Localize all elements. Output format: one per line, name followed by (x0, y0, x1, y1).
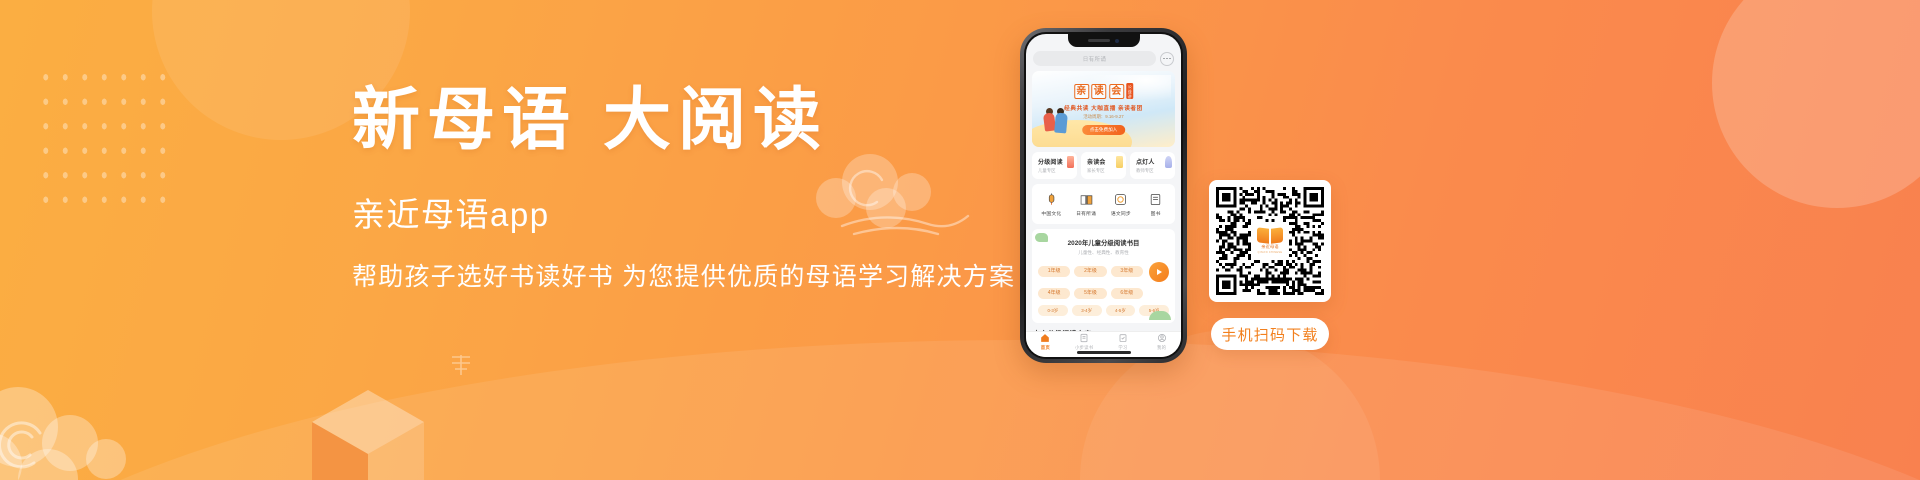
entry-subtitle: 儿童专区 (1038, 168, 1072, 174)
speaker-grille (1088, 39, 1110, 42)
open-book-icon (1079, 192, 1094, 207)
dot-grid-decoration (34, 63, 172, 211)
isometric-cube-decoration (308, 384, 428, 480)
home-icon (1040, 333, 1050, 343)
tab-reading[interactable]: 小步读书 (1065, 333, 1104, 351)
tab-profile[interactable]: 我的 (1142, 333, 1181, 351)
grade-chip[interactable]: 6年级 (1111, 288, 1143, 299)
scan-download-button[interactable]: 手机扫码下载 (1211, 318, 1329, 350)
entry-card-list: 分级阅读 儿童专区 亲读会 家长专区 点灯人 教师专区 (1032, 152, 1175, 179)
tab-label: 首页 (1026, 345, 1065, 351)
grade-row-2: 4年级 5年级 6年级 (1038, 288, 1169, 299)
tab-study[interactable]: 学习 (1104, 333, 1143, 351)
headline-left: 新母语 (352, 80, 577, 160)
hero-title-char: 亲 (1074, 84, 1089, 99)
quick-icon-row: 中国文化 日有所诵 (1032, 184, 1175, 224)
phone-screen: 日有所诵 亲 读 会 公益讲 (1026, 34, 1181, 357)
entry-card-graded-reading[interactable]: 分级阅读 儿童专区 (1032, 152, 1077, 179)
phone-notch (1068, 34, 1140, 47)
app-search-bar[interactable]: 日有所诵 (1033, 51, 1174, 66)
quick-icon-label: 图书 (1138, 210, 1173, 217)
phone-bezel: 日有所诵 亲 读 会 公益讲 (1024, 32, 1183, 359)
book-module-subtitle: 儿童性、经典性、教育性 (1038, 250, 1169, 256)
grade-row-1: 1年级 2年级 3年级 (1038, 262, 1169, 282)
person-icon (1165, 156, 1172, 168)
grade-chip[interactable]: 4年级 (1038, 288, 1070, 299)
tagline: 帮助孩子选好书读好书 为您提供优质的母语学习解决方案 (352, 265, 1012, 290)
book-icon (1148, 192, 1163, 207)
hill-curve-decoration (0, 340, 1920, 480)
entry-subtitle: 家长专区 (1087, 168, 1121, 174)
more-dots-icon[interactable] (1160, 52, 1174, 66)
front-camera-icon (1115, 39, 1119, 43)
quick-icon-label: 中国文化 (1034, 210, 1069, 217)
small-book-glyph-decoration (448, 352, 474, 378)
hero-seal-badge: 公益讲 (1126, 83, 1133, 99)
page-title: 新母语大阅读 (352, 86, 1012, 154)
grade-chip[interactable]: 5年级 (1074, 288, 1106, 299)
bookmark-icon (1116, 156, 1123, 168)
quick-icon-label: 语文同步 (1104, 210, 1139, 217)
hero-title-char: 读 (1091, 84, 1106, 99)
brand-name: 亲近母语 (1261, 244, 1279, 250)
phone-mockup: 日有所诵 亲 读 会 公益讲 (1020, 28, 1187, 363)
checklist-icon (1118, 333, 1128, 343)
tab-label: 我的 (1142, 345, 1181, 351)
play-video-icon[interactable] (1149, 262, 1169, 282)
hero-title: 亲 读 会 公益讲 (1074, 83, 1134, 99)
quick-icon-chinese-culture[interactable]: 中国文化 (1034, 192, 1069, 217)
hero-subtitle: 经典共读 大咖直播 亲读者团 (1064, 104, 1143, 112)
document-icon (1079, 333, 1089, 343)
entry-card-teacher[interactable]: 点灯人 教师专区 (1130, 152, 1175, 179)
user-icon (1157, 333, 1167, 343)
hero-banner-card[interactable]: 亲 读 会 公益讲 经典共读 大咖直播 亲读者团 活动周期：9.16-9.27 … (1032, 71, 1175, 147)
qr-block: 亲近母语 QINJIN CHINESE 手机扫码下载 (1209, 180, 1331, 350)
quick-icon-daily-recite[interactable]: 日有所诵 (1069, 192, 1104, 217)
entry-card-parent-club[interactable]: 亲读会 家长专区 (1081, 152, 1126, 179)
hero-cta-button[interactable]: 点击免费加入 (1082, 125, 1126, 135)
brand-name-en: QINJIN CHINESE (1258, 251, 1283, 254)
circle-play-icon (1113, 192, 1128, 207)
search-input[interactable]: 日有所诵 (1033, 51, 1156, 66)
promo-banner: 新母语大阅读 亲近母语app 帮助孩子选好书读好书 为您提供优质的母语学习解决方… (0, 0, 1920, 480)
leaf-decoration (1035, 233, 1048, 242)
open-book-logo-icon (1257, 228, 1283, 243)
chinese-cloud-icon-bottom-left (0, 371, 204, 480)
age-chip[interactable]: 4-5岁 (1106, 305, 1136, 316)
circle-decoration-top-right (1712, 0, 1920, 208)
hero-title-char: 会 (1109, 84, 1124, 99)
bookmark-icon (1067, 156, 1074, 168)
hero-date: 活动周期：9.16-9.27 (1083, 114, 1124, 120)
book-module-title: 2020年儿童分级阅读书目 (1038, 238, 1169, 247)
grade-row-3: 0-3岁 3-4岁 4-5岁 5-6岁 (1038, 305, 1169, 316)
home-indicator (1077, 351, 1131, 354)
copy-block: 新母语大阅读 亲近母语app 帮助孩子选好书读好书 为您提供优质的母语学习解决方… (352, 86, 1012, 290)
grade-chip[interactable]: 3年级 (1111, 266, 1143, 277)
tab-home[interactable]: 首页 (1026, 333, 1065, 351)
grade-chip[interactable]: 2年级 (1074, 266, 1106, 277)
grade-chip[interactable]: 1年级 (1038, 266, 1070, 277)
book-list-module: 2020年儿童分级阅读书目 儿童性、经典性、教育性 1年级 2年级 3年级 4年… (1032, 229, 1175, 323)
search-placeholder: 日有所诵 (1083, 55, 1107, 63)
quick-icon-label: 日有所诵 (1069, 210, 1104, 217)
qr-code-image: 亲近母语 QINJIN CHINESE (1216, 187, 1324, 295)
child-illustration-2 (1054, 113, 1068, 134)
lantern-icon (1044, 192, 1059, 207)
age-chip[interactable]: 0-3岁 (1038, 305, 1068, 316)
age-chip[interactable]: 3-4岁 (1072, 305, 1102, 316)
quick-icon-books[interactable]: 图书 (1138, 192, 1173, 217)
quick-icon-chinese-sync[interactable]: 语文同步 (1104, 192, 1139, 217)
entry-subtitle: 教师专区 (1136, 168, 1170, 174)
app-name: 亲近母语app (352, 198, 1012, 231)
brand-logo: 亲近母语 QINJIN CHINESE (1253, 226, 1287, 256)
qr-card: 亲近母语 QINJIN CHINESE (1209, 180, 1331, 302)
headline-right: 大阅读 (603, 80, 828, 160)
